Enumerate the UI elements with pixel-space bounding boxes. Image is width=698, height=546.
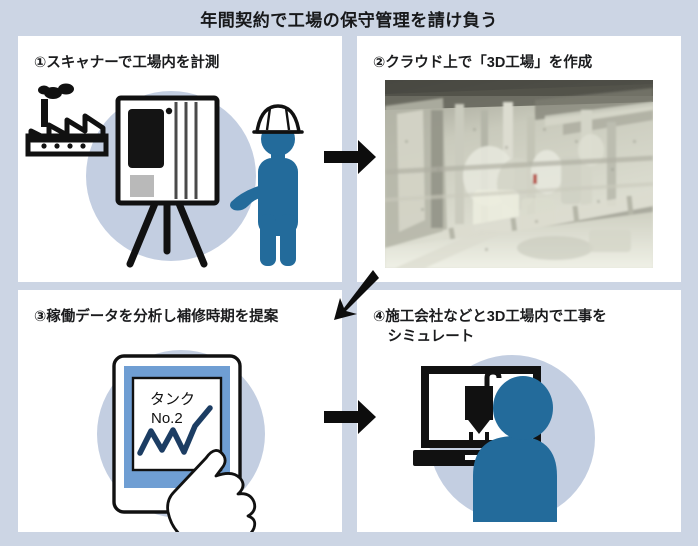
panel-1-label: ①スキャナーで工場内を計測: [34, 53, 219, 73]
tripod-icon: [130, 201, 204, 264]
arrow-panel2-to-panel3: [316, 266, 380, 324]
panel-step-4: ④施工会社などと3D工場内で工事を シミュレート: [357, 290, 681, 532]
page-title: 年間契約で工場の保守管理を請け負う: [200, 6, 498, 31]
panel-2-label: ②クラウド上で「3D工場」を作成: [373, 53, 592, 73]
tablet-title-line2: No.2: [151, 410, 183, 427]
circle-backdrop-icon: [86, 91, 256, 261]
plant-photo: [385, 80, 653, 268]
tablet-title-line1: タンク: [150, 391, 195, 408]
tablet-icon: [114, 356, 240, 512]
page-title-bar: 年間契約で工場の保守管理を請け負う: [0, 0, 698, 36]
laptop-icon: [413, 366, 549, 466]
panel-step-2: ②クラウド上で「3D工場」を作成: [357, 36, 681, 282]
circle-backdrop-icon: [97, 350, 265, 518]
laser-scanner-icon: [118, 98, 217, 203]
infographic-root: 年間契約で工場の保守管理を請け負う: [0, 0, 698, 546]
storage-tank-icon: [465, 372, 499, 440]
panel-step-3: タンク No.2 ③稼働データを分析し補修時期を提案: [18, 290, 342, 532]
hard-hat-icon: [254, 106, 302, 132]
panel-step-1: ①スキャナーで工場内を計測: [18, 36, 342, 282]
arrow-panel1-to-panel2: [322, 136, 378, 178]
circle-backdrop-icon: [429, 355, 595, 521]
arrow-panel3-to-panel4: [322, 396, 378, 438]
panel-4-label: ④施工会社などと3D工場内で工事を シミュレート: [373, 307, 607, 347]
panel-3-label: ③稼働データを分析し補修時期を提案: [34, 307, 278, 327]
worker-figure-icon: [230, 106, 302, 266]
pointing-hand-icon: [168, 450, 255, 532]
factory-icon: [28, 84, 106, 155]
person-figure-icon: [473, 376, 557, 522]
line-chart-icon: [140, 408, 210, 453]
